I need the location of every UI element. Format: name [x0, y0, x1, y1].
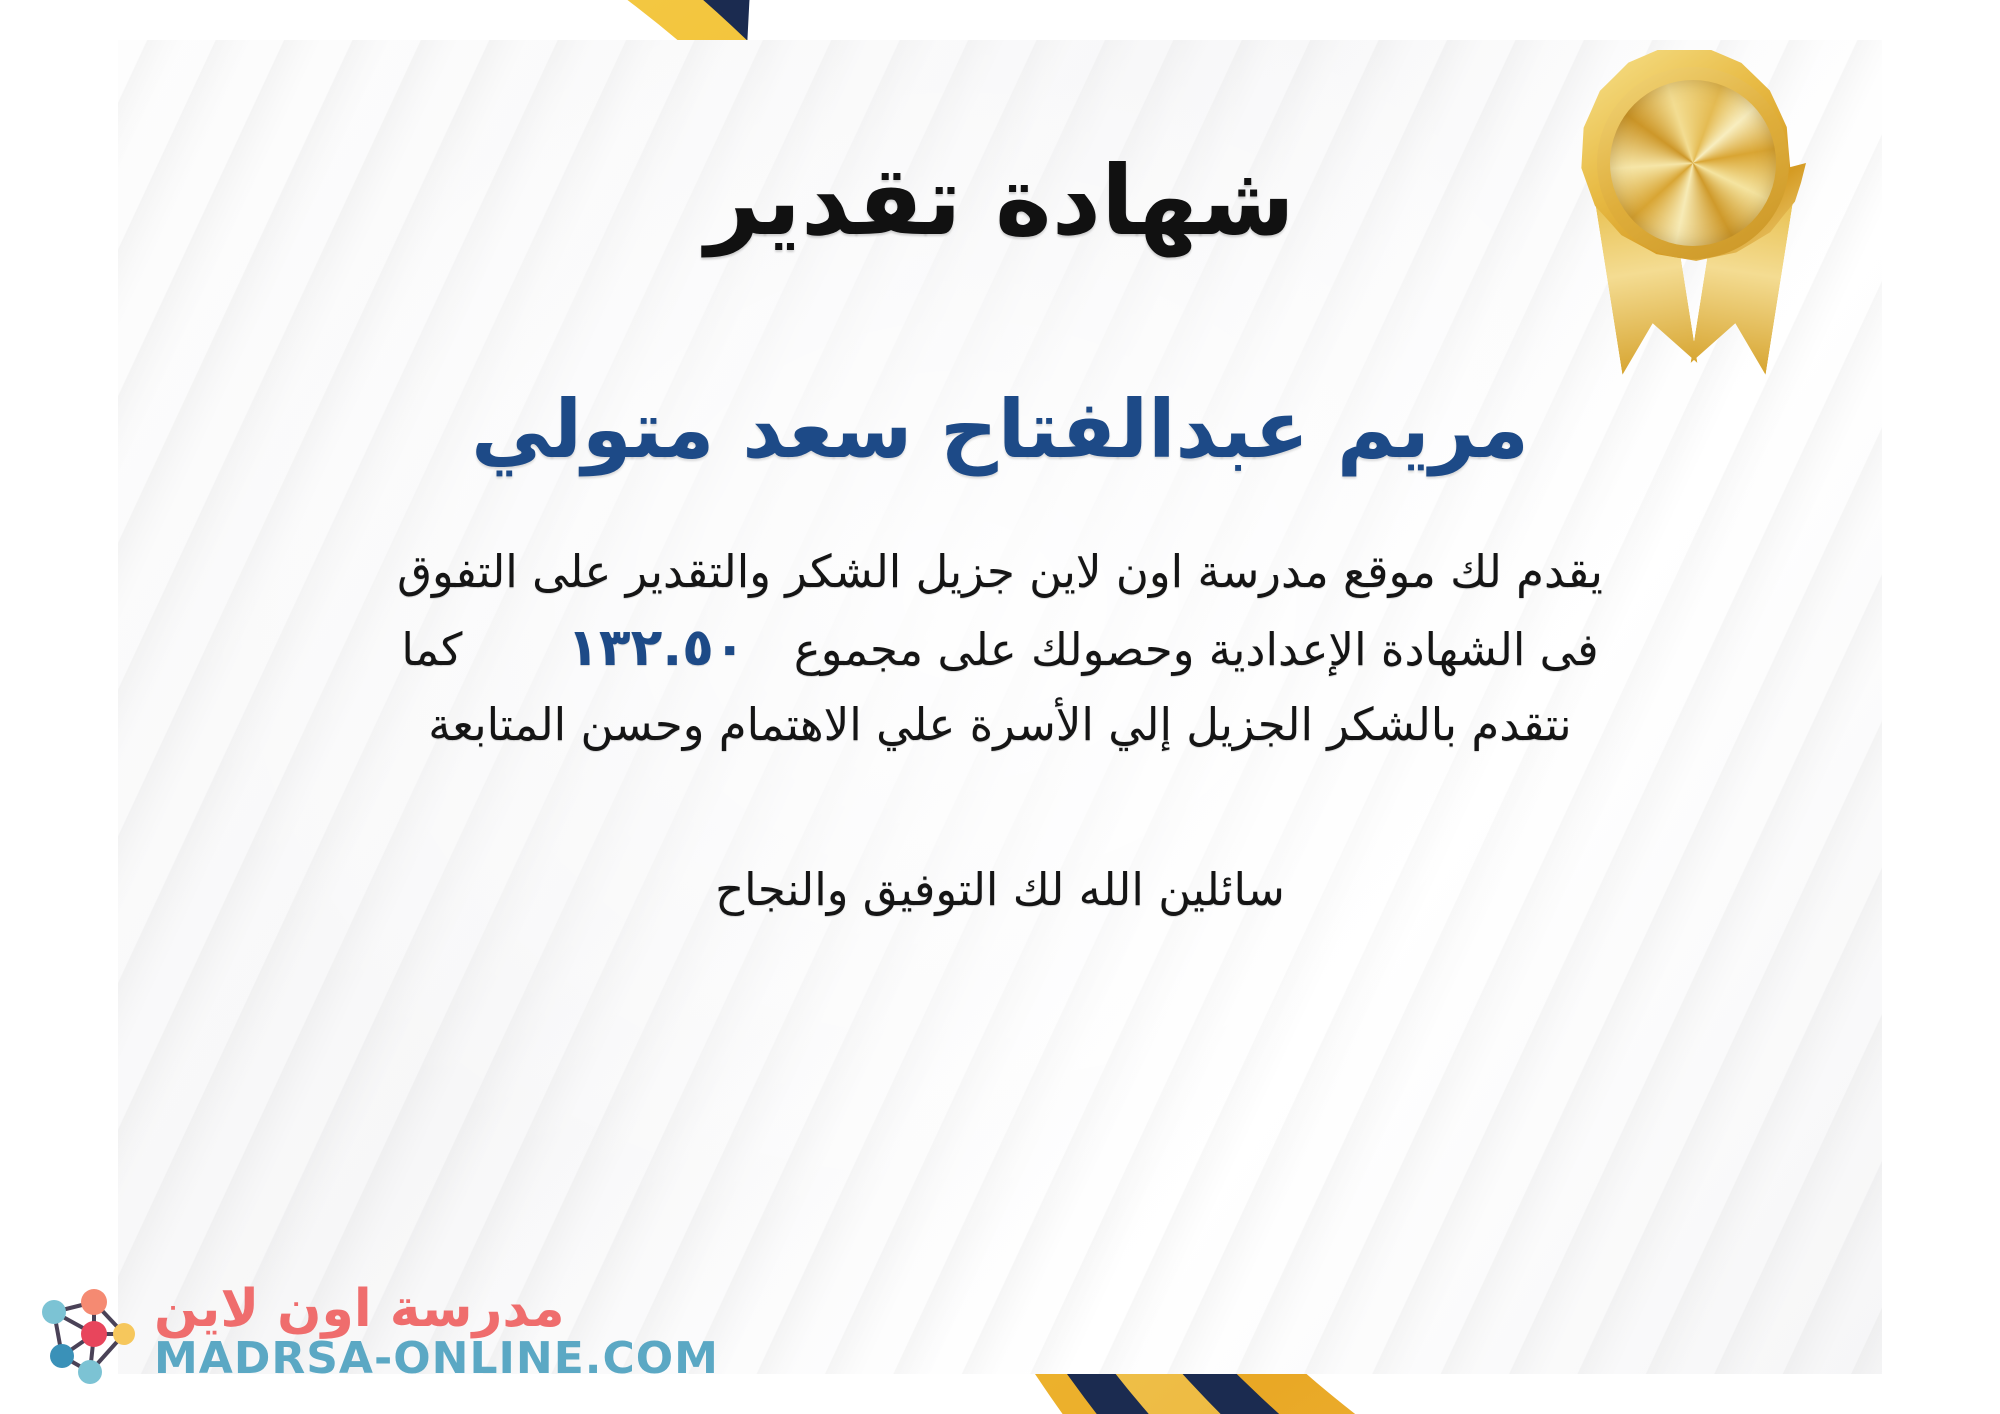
- body-line-2: فى الشهادة الإعدادية وحصولك على مجموع ١٣…: [200, 607, 1800, 689]
- logo-arabic-name: مدرسة اون لاين: [154, 1282, 565, 1337]
- body-line-1: يقدم لك موقع مدرسة اون لاين جزيل الشكر و…: [200, 536, 1800, 607]
- closing-line: سائلين الله لك التوفيق والنجاح: [715, 856, 1285, 924]
- certificate-canvas: شهادة تقدير مريم عبدالفتاح سعد متولي يقد…: [0, 0, 2000, 1414]
- body-line-2-text-end: كما: [401, 623, 462, 676]
- certificate-body: يقدم لك موقع مدرسة اون لاين جزيل الشكر و…: [200, 536, 1800, 760]
- logo-text: مدرسة اون لاين MADRSA-ONLINE.COM: [154, 1282, 719, 1383]
- student-name: مريم عبدالفتاح سعد متولي: [471, 386, 1529, 474]
- body-line-3: نتقدم بالشكر الجزيل إلي الأسرة علي الاهت…: [200, 689, 1800, 760]
- logo-domain: MADRSA-ONLINE.COM: [154, 1336, 719, 1382]
- certificate-title: شهادة تقدير: [705, 150, 1295, 254]
- body-line-2-text-start: فى الشهادة الإعدادية وحصولك على مجموع: [794, 623, 1599, 676]
- grade-value: ١٣٢.٥٠: [533, 607, 779, 689]
- network-nodes-icon: [28, 1276, 140, 1388]
- site-logo[interactable]: مدرسة اون لاين MADRSA-ONLINE.COM: [28, 1276, 719, 1388]
- certificate-content: شهادة تقدير مريم عبدالفتاح سعد متولي يقد…: [0, 0, 2000, 1414]
